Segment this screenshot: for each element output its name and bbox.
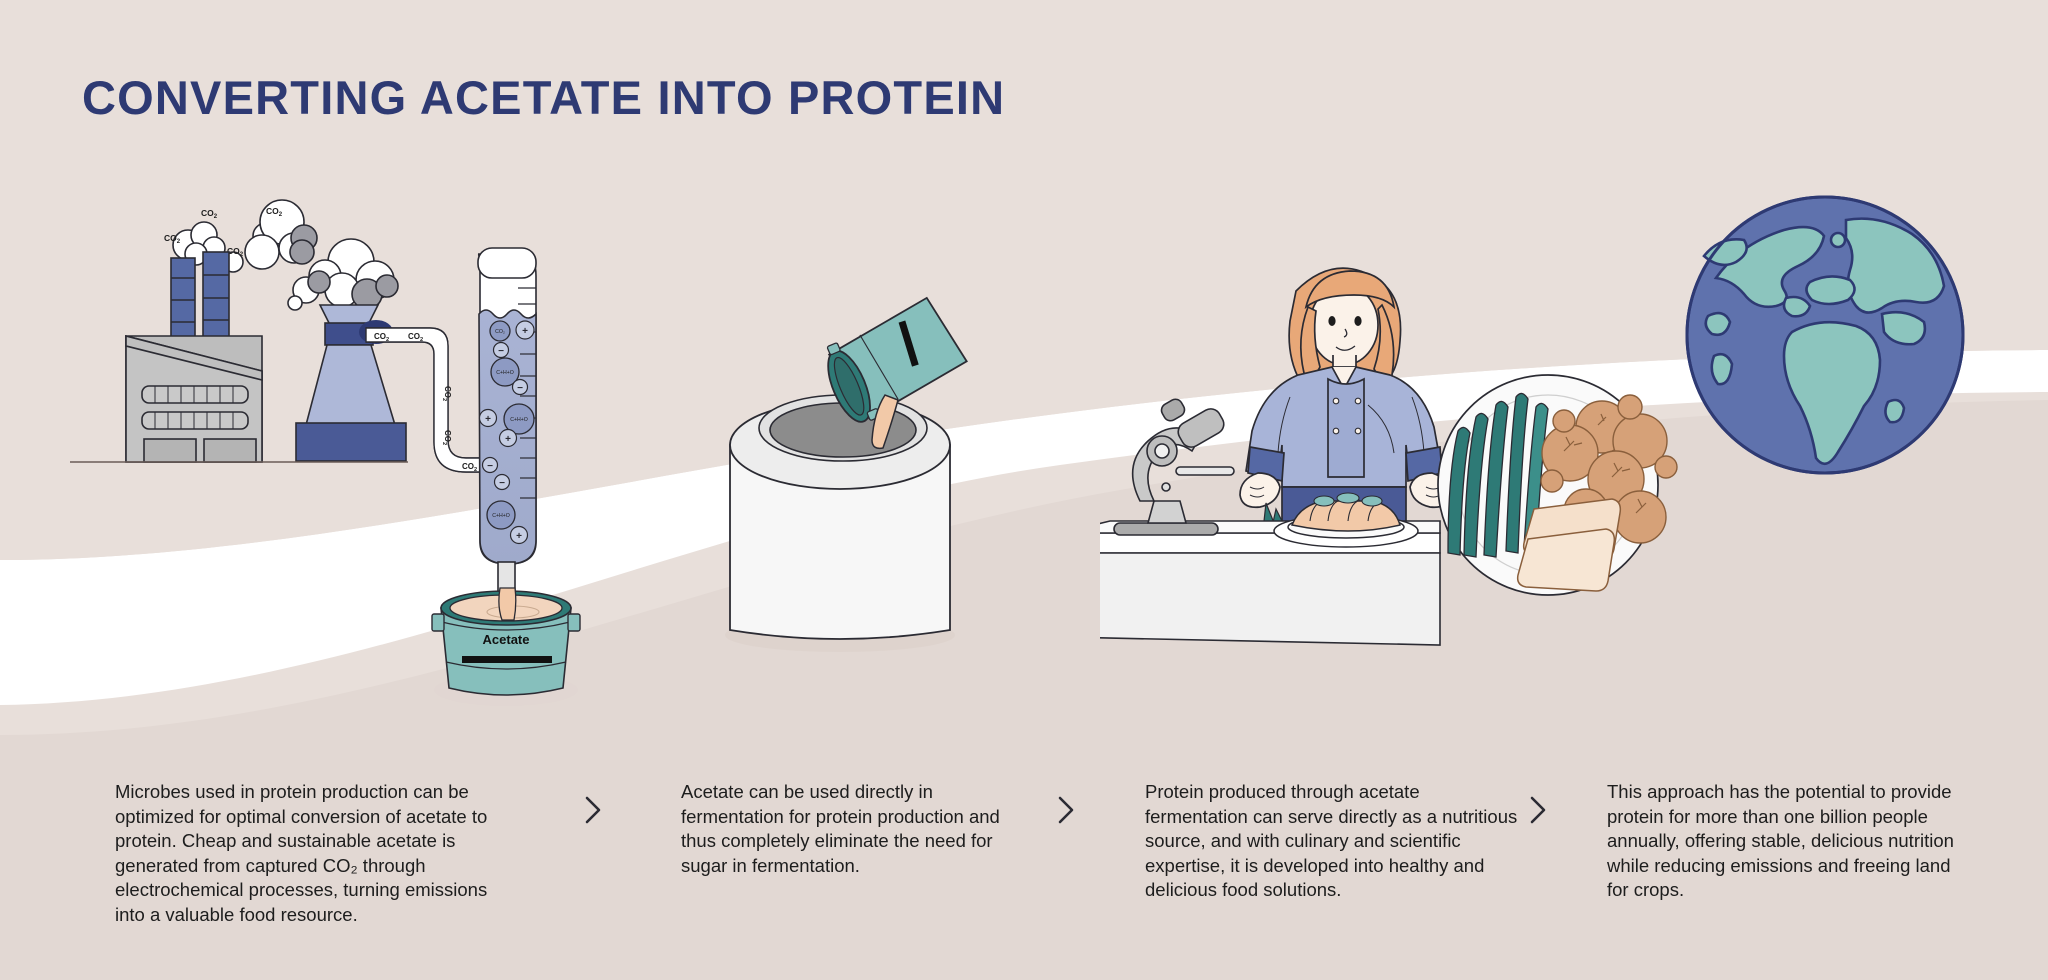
caption-text-2: Acetate can be used directly in fermenta… xyxy=(681,780,1001,878)
caption-column-4: This approach has the potential to provi… xyxy=(1607,780,1967,903)
infographic-root: CONVERTING ACETATE INTO PROTEIN xyxy=(0,0,2048,980)
acetate-bucket-label: Acetate xyxy=(483,632,530,647)
bread-slices xyxy=(1518,499,1621,591)
chevron-right-icon-3 xyxy=(1525,793,1551,827)
scene-globe xyxy=(1680,190,1970,480)
chevron-right-icon-1 xyxy=(580,793,606,827)
svg-text:−: − xyxy=(499,478,505,489)
chef-figure xyxy=(1240,268,1450,527)
chevron-right-icon-2 xyxy=(1053,793,1079,827)
svg-text:CO2: CO2 xyxy=(201,208,218,220)
caption-column-3: Protein produced through acetate ferment… xyxy=(1145,780,1525,903)
svg-text:+: + xyxy=(485,414,491,425)
acetate-bucket xyxy=(432,588,580,706)
food-plate xyxy=(1438,375,1677,595)
caption-text-3: Protein produced through acetate ferment… xyxy=(1145,780,1525,903)
scene-kitchen xyxy=(1100,255,1680,695)
svg-text:+: + xyxy=(505,434,511,445)
svg-text:C+H+O: C+H+O xyxy=(510,417,528,423)
caption-column-1: Microbes used in protein production can … xyxy=(115,780,515,927)
caption-column-2: Acetate can be used directly in fermenta… xyxy=(681,780,1001,878)
svg-text:−: − xyxy=(498,346,504,357)
svg-text:−: − xyxy=(517,383,523,394)
svg-text:+: + xyxy=(522,326,528,337)
scene-factory: CO2 CO2 CO2 CO2 xyxy=(70,190,630,720)
fermentation-illustration xyxy=(680,290,1020,660)
electrochemical-cell: CO₂ C+H+O C+H+O C+H+O + xyxy=(478,248,536,620)
svg-text:CO₂: CO₂ xyxy=(495,329,505,335)
globe-illustration xyxy=(1680,190,1970,480)
page-title: CONVERTING ACETATE INTO PROTEIN xyxy=(82,70,1005,125)
svg-text:−: − xyxy=(487,461,493,472)
svg-text:C+H+O: C+H+O xyxy=(496,370,514,376)
captions-row: Microbes used in protein production can … xyxy=(0,780,2048,960)
microscope xyxy=(1114,397,1234,535)
factory-illustration: CO2 CO2 CO2 CO2 xyxy=(70,190,630,720)
caption-text-4: This approach has the potential to provi… xyxy=(1607,780,1967,903)
scene-fermentation-tank xyxy=(680,290,1020,660)
svg-text:C+H+O: C+H+O xyxy=(492,513,510,519)
svg-text:+: + xyxy=(516,531,522,542)
kitchen-illustration xyxy=(1100,255,1680,695)
caption-text-1: Microbes used in protein production can … xyxy=(115,780,515,927)
